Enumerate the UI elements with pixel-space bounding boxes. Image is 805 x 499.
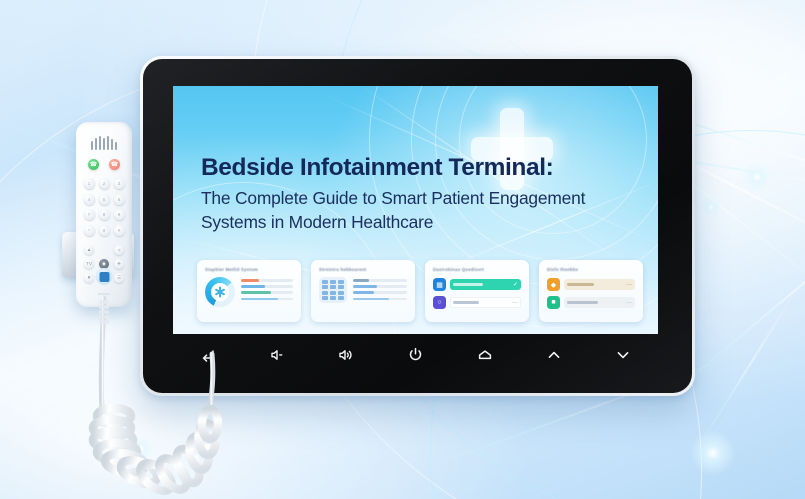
card-row-list: ▦ ✓ ○ — (433, 278, 521, 309)
metric-line (353, 279, 407, 282)
status-pill: — (564, 279, 635, 290)
call-nurse-key[interactable]: ⎈ (114, 259, 124, 269)
home-icon[interactable] (472, 344, 498, 366)
handset-slot (98, 293, 110, 295)
call-buttons: ☎ ☎ (83, 159, 125, 170)
metric-line (353, 298, 407, 301)
metric-line (353, 285, 407, 288)
volume-down-icon[interactable] (264, 344, 290, 366)
list-item[interactable]: ▦ ✓ (433, 278, 521, 291)
check-icon: ✓ (513, 282, 518, 288)
metric-line (353, 291, 407, 294)
key-8[interactable]: 8 (99, 209, 110, 220)
clock-icon: ○ (433, 296, 446, 309)
speaker-grille-icon (83, 134, 125, 150)
card-dastrsbinas-qsodisvrt[interactable]: Dastrsbinas Qsodisvrt ▦ ✓ ○ (425, 260, 529, 322)
power-icon[interactable] (402, 344, 428, 366)
chevron-down-icon[interactable] (610, 344, 636, 366)
key-1[interactable]: 1 (84, 178, 95, 189)
light-key[interactable]: ☼ (114, 245, 124, 255)
screenshot-stage: Bedside Infotainment Terminal: The Compl… (0, 0, 805, 499)
nurse-call-handset[interactable]: ☎ ☎ 1 2 3 4 5 6 7 8 9 * 0 # ▲ ☼ TV ◉ ⎈ ▼… (76, 122, 132, 307)
key-9[interactable]: 9 (114, 209, 125, 220)
chat-icon: ■ (547, 296, 560, 309)
list-item[interactable]: ○ — (433, 296, 521, 309)
table-grid-icon (319, 277, 347, 303)
status-pill: — (564, 297, 635, 308)
tv-key[interactable]: TV (84, 259, 94, 269)
key-6[interactable]: 6 (114, 194, 125, 205)
menu-key[interactable]: ☰ (114, 273, 124, 283)
card-row: Stapbier Metlid Systum (197, 260, 643, 322)
hospital-logo-icon (96, 268, 113, 285)
card-title: Dixfe Ihsnkbx (547, 267, 635, 272)
volume-down-key[interactable]: ▼ (84, 273, 94, 283)
card-row-list: ◆ — ■ — (547, 278, 635, 309)
key-3[interactable]: 3 (114, 178, 125, 189)
volume-up-key[interactable]: ▲ (84, 245, 94, 255)
key-hash[interactable]: # (114, 225, 125, 236)
end-call-button[interactable]: ☎ (109, 159, 120, 170)
page-title: Bedside Infotainment Terminal: (201, 154, 621, 182)
card-dixfe-ihsnkbx[interactable]: Dixfe Ihsnkbx ◆ — ■ (539, 260, 643, 322)
bell-icon: ◆ (547, 278, 560, 291)
chevron-up-icon[interactable] (541, 344, 567, 366)
answer-call-button[interactable]: ☎ (88, 159, 99, 170)
list-item[interactable]: ■ — (547, 296, 635, 309)
key-4[interactable]: 4 (84, 194, 95, 205)
navigation-key[interactable]: ◉ (99, 259, 109, 269)
key-star[interactable]: * (84, 225, 95, 236)
volume-up-icon[interactable] (333, 344, 359, 366)
key-2[interactable]: 2 (99, 178, 110, 189)
dash-icon: — (626, 282, 632, 288)
coiled-handset-cord (62, 296, 252, 491)
key-5[interactable]: 5 (99, 194, 110, 205)
card-metric-lines (353, 277, 407, 300)
status-pill: — (450, 297, 521, 308)
list-item[interactable]: ◆ — (547, 278, 635, 291)
screen-copy: Bedside Infotainment Terminal: The Compl… (201, 154, 621, 234)
dash-icon: — (626, 300, 632, 306)
key-0[interactable]: 0 (99, 225, 110, 236)
metric-line (241, 291, 293, 294)
status-pill: ✓ (450, 279, 521, 290)
card-title: Stapbier Metlid Systum (205, 267, 293, 272)
dash-icon: — (512, 300, 518, 306)
key-7[interactable]: 7 (84, 209, 95, 220)
metric-line (241, 279, 293, 282)
card-streintru-hebboarent[interactable]: Streintru hebboarent (311, 260, 415, 322)
calendar-icon: ▦ (433, 278, 446, 291)
card-title: Dastrsbinas Qsodisvrt (433, 267, 521, 272)
metric-line (241, 285, 293, 288)
page-subtitle: The Complete Guide to Smart Patient Enga… (201, 187, 621, 233)
keypad: 1 2 3 4 5 6 7 8 9 * 0 # (83, 178, 125, 236)
card-title: Streintru hebboarent (319, 267, 407, 272)
